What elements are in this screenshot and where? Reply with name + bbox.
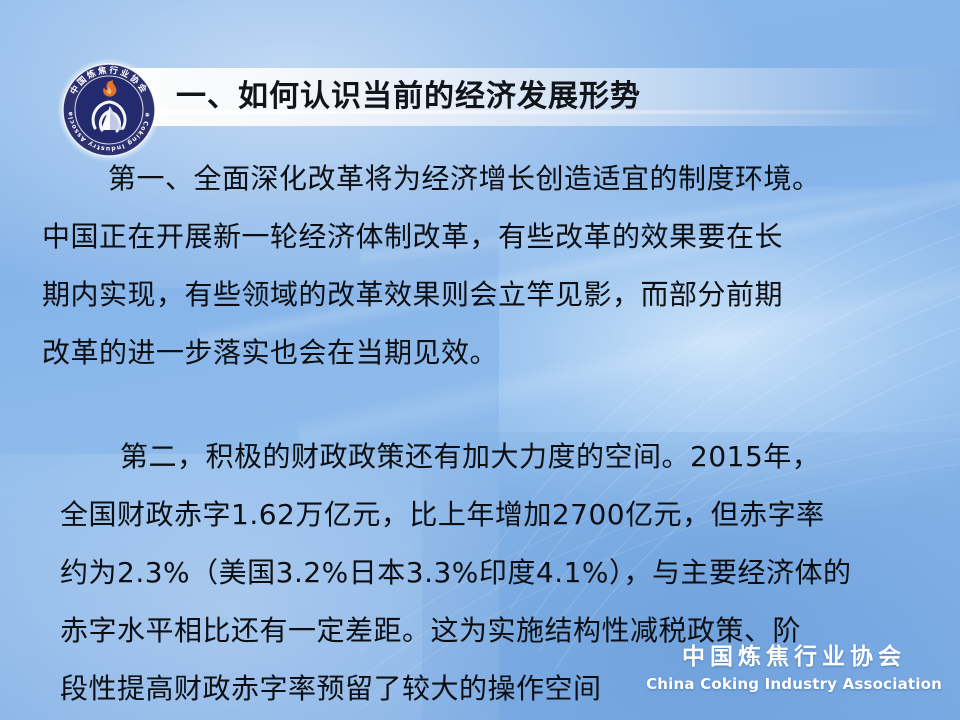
paragraph-line: 第二，积极的财政政策还有加大力度的空间。2015年， [0, 428, 960, 486]
paragraph-line: 第一、全面深化改革将为经济增长创造适宜的制度环境。 [0, 150, 960, 208]
page-title: 一、如何认识当前的经济发展形势 [176, 76, 641, 118]
paragraph-line: 全国财政赤字1.62万亿元，比上年增加2700亿元，但赤字率 [0, 486, 960, 544]
paragraph-line: 改革的进一步落实也会在当期见效。 [0, 324, 960, 382]
slide-content: 第一、全面深化改革将为经济增长创造适宜的制度环境。 中国正在开展新一轮经济体制改… [0, 150, 960, 718]
paragraph-line: 约为2.3%（美国3.2%日本3.3%印度4.1%），与主要经济体的 [0, 544, 960, 602]
association-logo-icon: 中国炼焦行业协会 China Coking Industry Associati… [57, 58, 161, 162]
paragraph-first-point: 第一、全面深化改革将为经济增长创造适宜的制度环境。 中国正在开展新一轮经济体制改… [0, 150, 960, 382]
presentation-slide: 一、如何认识当前的经济发展形势 中国炼焦行业协会 C [0, 0, 960, 720]
footer-brand-chinese: 中国炼焦行业协会 [646, 642, 942, 672]
paragraph-line: 期内实现，有些领域的改革效果则会立竿见影，而部分前期 [0, 266, 960, 324]
footer-brand-english: China Coking Industry Association [646, 674, 942, 694]
paragraph-line: 中国正在开展新一轮经济体制改革，有些改革的效果要在长 [0, 208, 960, 266]
footer-brand: 中国炼焦行业协会 China Coking Industry Associati… [646, 642, 942, 694]
